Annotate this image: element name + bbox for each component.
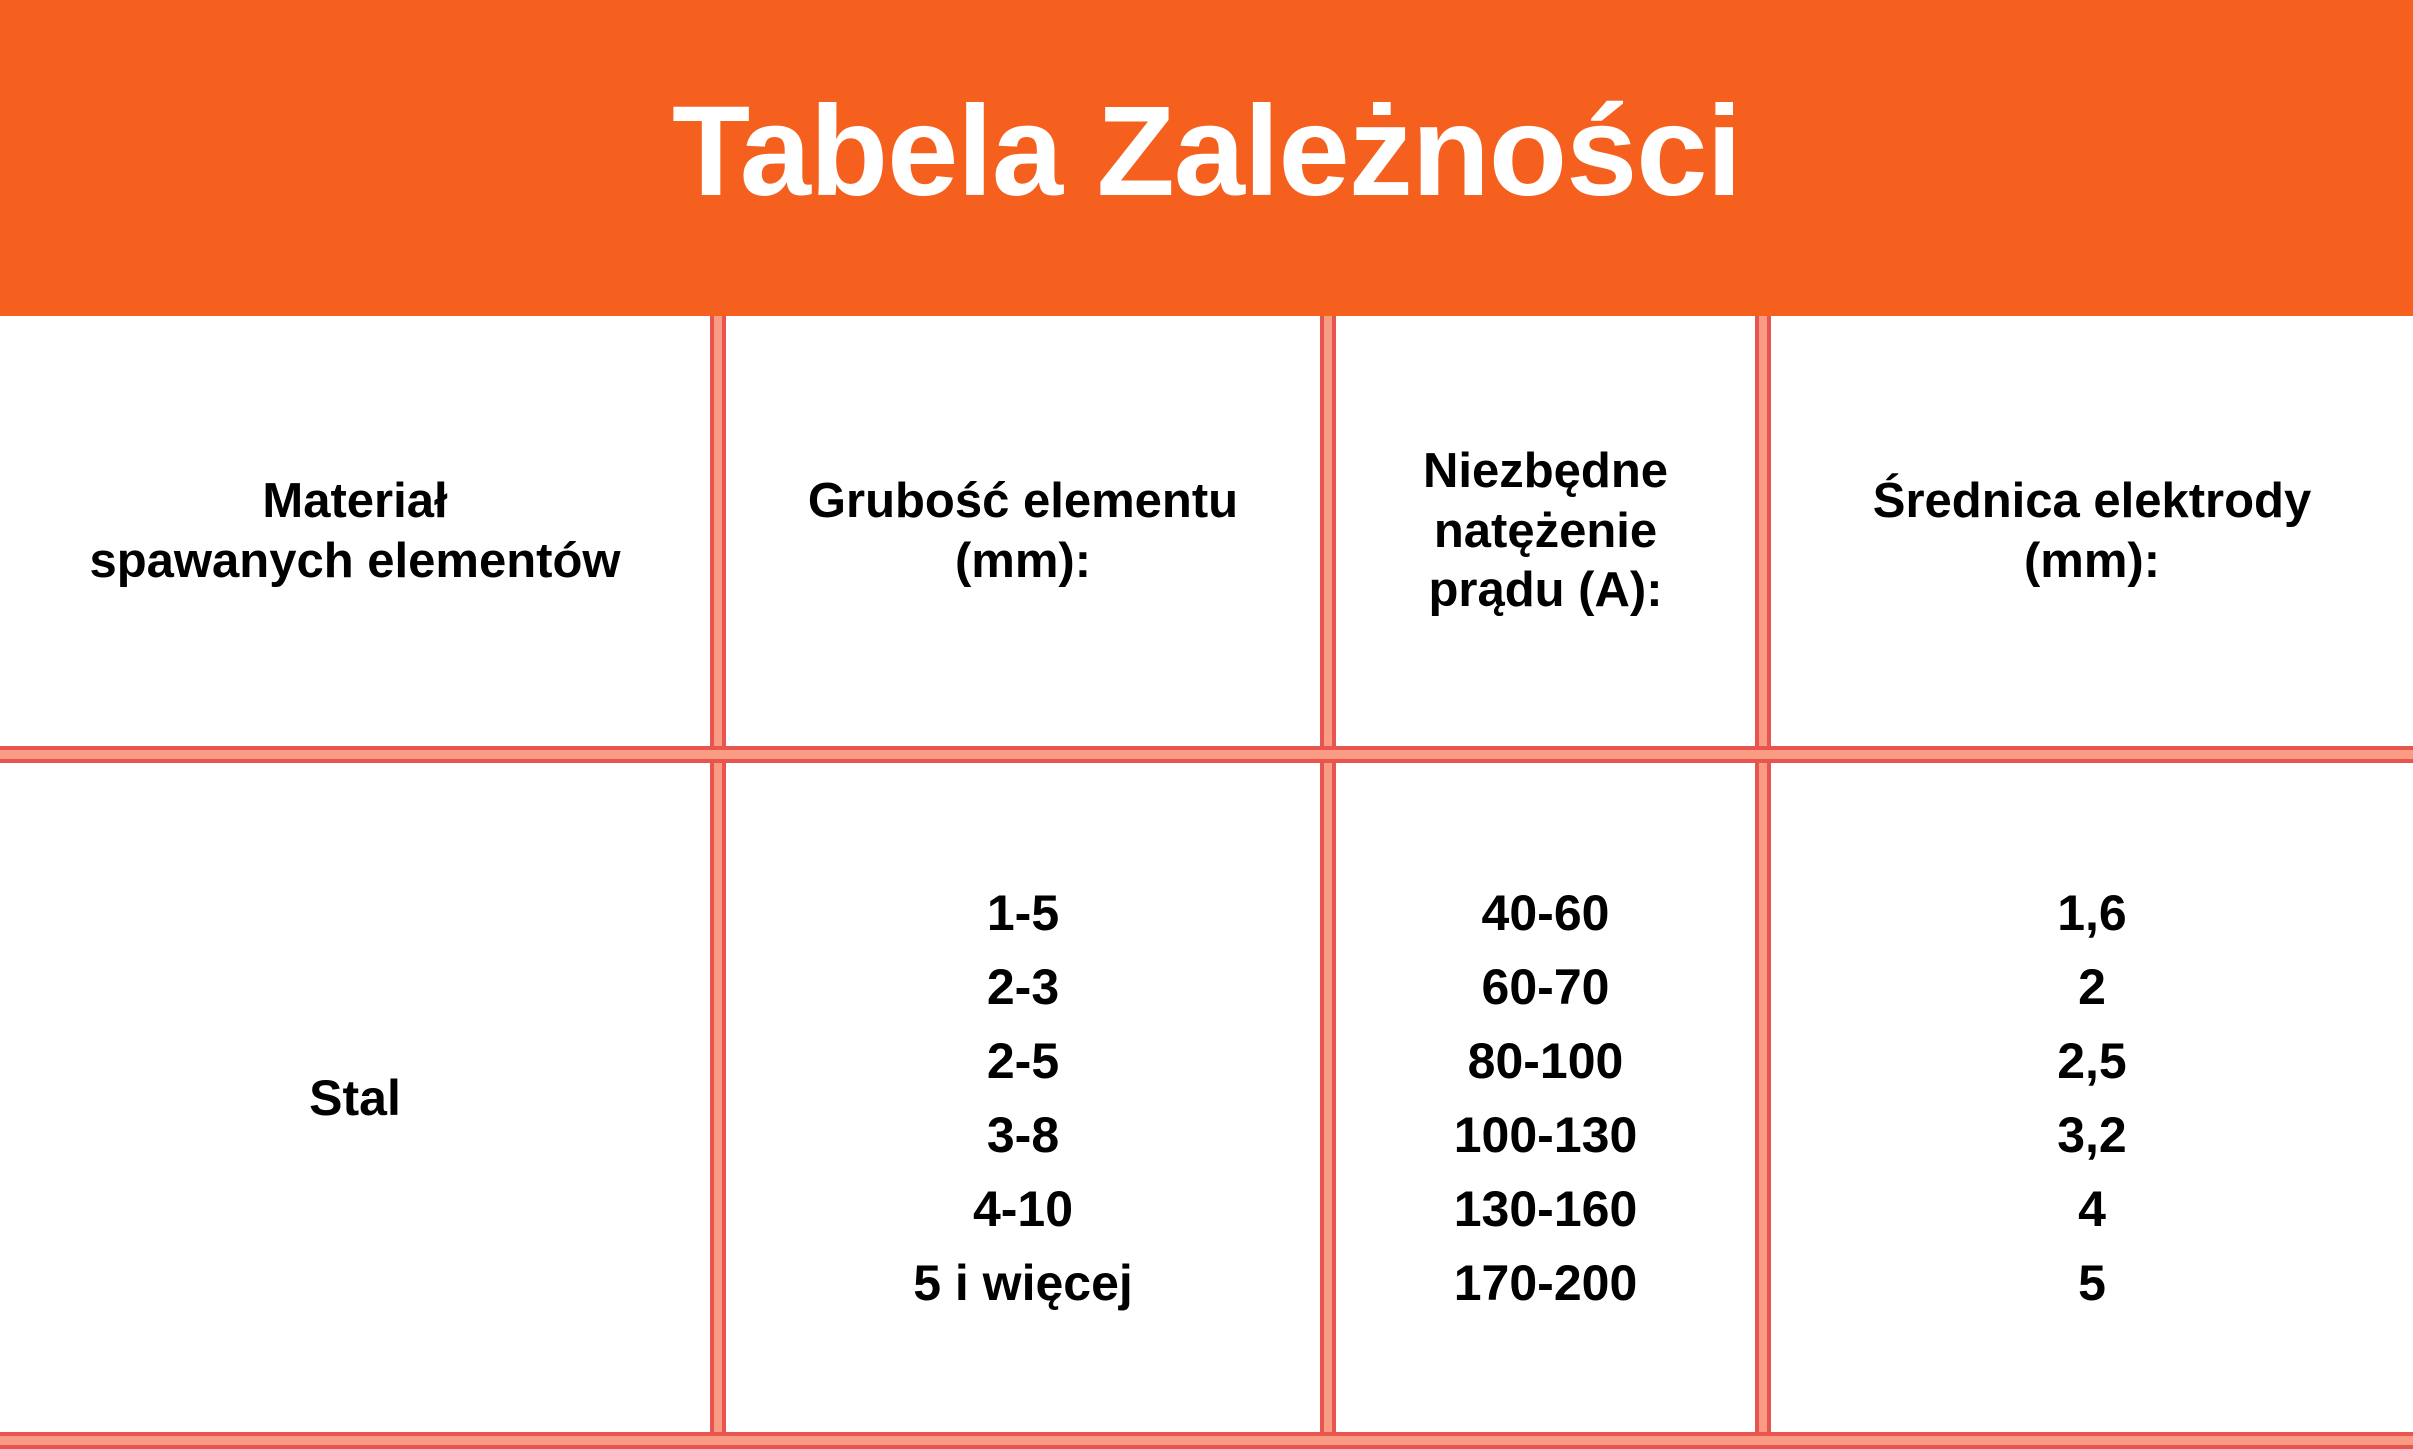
list-item: 80-100 [1468, 1036, 1624, 1110]
column-header-current-line1: Niezbędne [1423, 442, 1668, 502]
cell-current-list: 40-60 60-70 80-100 100-130 130-160 170-2… [1336, 763, 1755, 1433]
list-item: 2-3 [987, 962, 1059, 1036]
column-header-thickness-line1: Grubość elementu [808, 472, 1238, 532]
column-header-material: Materiał spawanych elementów [0, 316, 710, 747]
list-item: 4-10 [973, 1184, 1073, 1258]
row-divider-bottom [0, 1432, 2413, 1449]
column-header-material-line2: spawanych elementów [89, 532, 620, 592]
list-item: 2-5 [987, 1036, 1059, 1110]
column-header-electrode-line1: Średnica elektrody [1873, 472, 2311, 532]
list-item: 130-160 [1454, 1184, 1638, 1258]
list-item: 3-8 [987, 1110, 1059, 1184]
list-item: 2 [2078, 962, 2106, 1036]
table-header-row: Materiał spawanych elementów Grubość ele… [0, 316, 2413, 747]
list-item: 3,2 [2057, 1110, 2127, 1184]
page-title: Tabela Zależności [672, 88, 1741, 216]
column-header-electrode: Średnica elektrody (mm): [1771, 316, 2413, 747]
list-item: 4 [2078, 1184, 2106, 1258]
list-item: 1,6 [2057, 888, 2127, 962]
list-item: 1-5 [987, 888, 1059, 962]
page-banner: Tabela Zależności [0, 0, 2413, 316]
column-header-current-line3: prądu (A): [1428, 561, 1662, 621]
row-divider-header [0, 746, 2413, 763]
list-item: 40-60 [1482, 888, 1610, 962]
column-header-thickness: Grubość elementu (mm): [726, 316, 1320, 747]
list-item: 5 [2078, 1258, 2106, 1308]
column-header-thickness-line2: (mm): [955, 532, 1091, 592]
column-header-electrode-line2: (mm): [2024, 532, 2160, 592]
cell-material: Stal [0, 763, 710, 1433]
cell-electrode-list: 1,6 2 2,5 3,2 4 5 [1771, 763, 2413, 1433]
column-header-current-line2: natężenie [1434, 502, 1657, 562]
cell-thickness-list: 1-5 2-3 2-5 3-8 4-10 5 i więcej [726, 763, 1320, 1433]
column-header-material-line1: Materiał [262, 472, 447, 532]
table-page: Tabela Zależności Materiał spawanych ele… [0, 0, 2413, 1449]
list-item: 60-70 [1482, 962, 1610, 1036]
column-header-current: Niezbędne natężenie prądu (A): [1336, 316, 1755, 747]
table-row: Stal 1-5 2-3 2-5 3-8 4-10 5 i więcej 40-… [0, 763, 2413, 1433]
list-item: 5 i więcej [913, 1258, 1133, 1308]
list-item: 170-200 [1454, 1258, 1638, 1308]
list-item: 100-130 [1454, 1110, 1638, 1184]
list-item: 2,5 [2057, 1036, 2127, 1110]
